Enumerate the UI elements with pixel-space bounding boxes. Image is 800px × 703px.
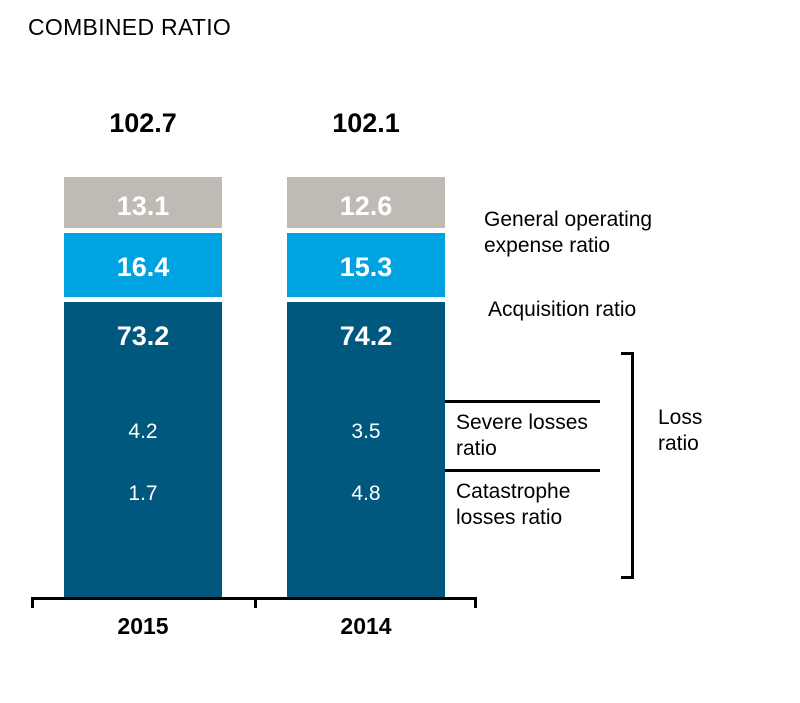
bar-segment-value-gopex-2014: 12.6: [287, 191, 445, 222]
bar-segment-value-catastrophe-2015: 1.7: [64, 482, 222, 506]
x-axis-label-2014: 2014: [287, 613, 445, 640]
leader-line-severe: [445, 400, 600, 403]
bar-segment-value-gopex-2015: 13.1: [64, 191, 222, 222]
bar-segment-value-loss-2014: 74.2: [287, 321, 445, 352]
loss-ratio-bracket: [621, 352, 634, 579]
legend-label-gopex-line1: General operating: [484, 207, 694, 233]
x-axis-tick-left: [31, 597, 34, 608]
x-axis-label-2015: 2015: [64, 613, 222, 640]
legend-label-catastrophe-line2: losses ratio: [456, 505, 616, 531]
bar-segment-acquisition-2015[interactable]: 16.4: [64, 233, 222, 297]
combined-ratio-chart: COMBINED RATIO 102.7 13.1 16.4 73.2 4.2 …: [0, 0, 800, 703]
bar-segment-value-loss-2015: 73.2: [64, 321, 222, 352]
legend-label-catastrophe-line1: Catastrophe: [456, 479, 616, 505]
legend-label-acquisition: Acquisition ratio: [488, 297, 698, 323]
legend-label-loss-ratio: Loss ratio: [658, 405, 768, 456]
legend-label-severe: Severe losses ratio: [456, 410, 616, 461]
legend-label-catastrophe: Catastrophe losses ratio: [456, 479, 616, 530]
bar-segment-value-severe-2015: 4.2: [64, 420, 222, 444]
x-axis-tick-middle: [254, 597, 257, 608]
bar-segment-value-catastrophe-2014: 4.8: [287, 482, 445, 506]
bar-segment-value-severe-2014: 3.5: [287, 420, 445, 444]
bar-segment-value-acquisition-2015: 16.4: [64, 252, 222, 283]
legend-label-gopex-line2: expense ratio: [484, 233, 694, 259]
bar-segment-loss-2015[interactable]: 73.2 4.2 1.7: [64, 302, 222, 598]
bar-total-2014: 102.1: [287, 108, 445, 139]
legend-label-loss-line2: ratio: [658, 431, 768, 457]
legend-label-severe-line2: ratio: [456, 436, 616, 462]
legend-label-loss-line1: Loss: [658, 405, 768, 431]
leader-line-catastrophe: [445, 469, 600, 472]
legend-label-gopex: General operating expense ratio: [484, 207, 694, 258]
bar-segment-acquisition-2014[interactable]: 15.3: [287, 233, 445, 297]
bar-segment-gopex-2015[interactable]: 13.1: [64, 177, 222, 228]
bar-segment-gopex-2014[interactable]: 12.6: [287, 177, 445, 228]
page-title: COMBINED RATIO: [28, 14, 231, 41]
bar-segment-loss-2014[interactable]: 74.2 3.5 4.8: [287, 302, 445, 598]
x-axis-tick-right: [474, 597, 477, 608]
bar-segment-value-acquisition-2014: 15.3: [287, 252, 445, 283]
legend-label-severe-line1: Severe losses: [456, 410, 616, 436]
bar-total-2015: 102.7: [64, 108, 222, 139]
